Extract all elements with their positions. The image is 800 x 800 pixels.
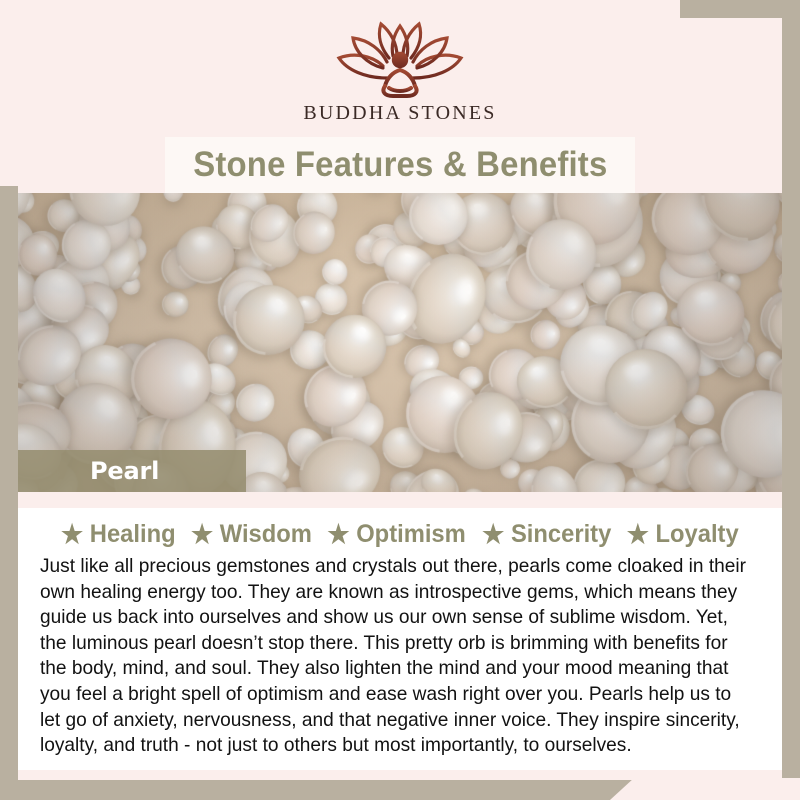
brand-logo-block: BUDDHA STONES	[0, 18, 800, 138]
keyword-list: ★Healing★Wisdom★Optimism★Sincerity★Loyal…	[18, 508, 782, 552]
keyword-label: Wisdom	[220, 520, 312, 549]
stone-description: Just like all precious gemstones and cry…	[40, 554, 749, 759]
frame-top-right-bar	[680, 0, 800, 18]
frame-left-strip	[0, 186, 18, 800]
keyword-label: Healing	[90, 520, 176, 549]
star-icon: ★	[191, 521, 213, 547]
keyword-label: Loyalty	[655, 520, 738, 549]
keyword-sincerity: ★Sincerity	[473, 520, 611, 549]
pearl-photo-canvas	[18, 193, 782, 492]
title-banner: Stone Features & Benefits	[165, 137, 635, 193]
keyword-label: Sincerity	[511, 520, 611, 549]
stone-name-banner: Pearl	[18, 450, 246, 492]
star-icon: ★	[482, 521, 504, 547]
keyword-label: Optimism	[356, 520, 466, 549]
content-panel: ★Healing★Wisdom★Optimism★Sincerity★Loyal…	[18, 508, 782, 770]
keyword-optimism: ★Optimism	[319, 520, 466, 549]
brand-name: BUDDHA STONES	[303, 102, 496, 125]
frame-bottom-bevel	[610, 778, 800, 800]
keyword-wisdom: ★Wisdom	[182, 520, 311, 549]
star-icon: ★	[627, 521, 649, 547]
star-icon: ★	[328, 521, 350, 547]
page-title: Stone Features & Benefits	[193, 145, 607, 185]
stone-name: Pearl	[90, 457, 159, 485]
lotus-meditation-icon	[325, 18, 475, 100]
poster-root: BUDDHA STONES Stone Features & Benefits …	[0, 0, 800, 800]
keyword-healing: ★Healing	[61, 520, 176, 549]
star-icon: ★	[61, 521, 83, 547]
stone-photo	[18, 193, 782, 492]
keyword-loyalty: ★Loyalty	[618, 520, 739, 549]
